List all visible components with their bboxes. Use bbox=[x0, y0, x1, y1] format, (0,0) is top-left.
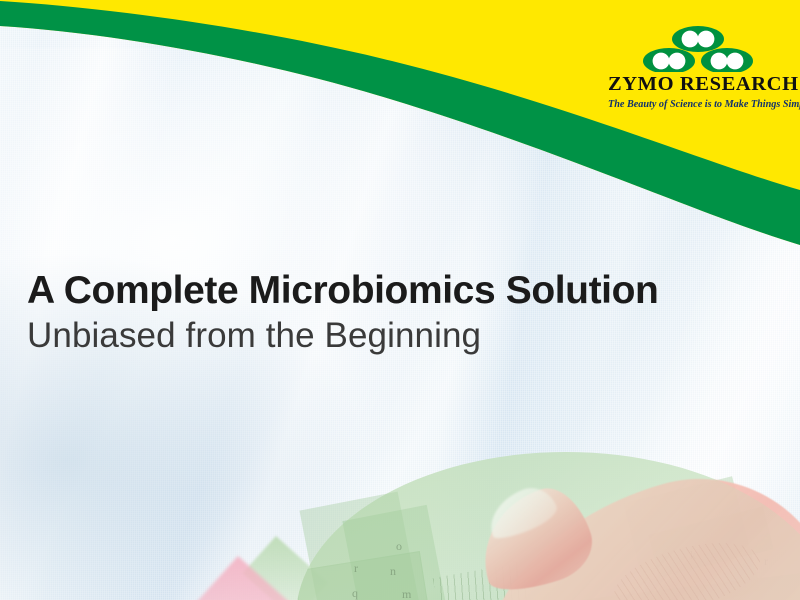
overlay-letter: o bbox=[396, 540, 402, 552]
slide-canvas: o r n q m k r bbox=[0, 0, 800, 600]
logo-ovals-icon bbox=[608, 26, 788, 72]
brand-wordmark: ZYMO RESEARCH bbox=[608, 73, 788, 96]
brand-tagline: The Beauty of Science is to Make Things … bbox=[608, 99, 788, 110]
page-title: A Complete Microbiomics Solution bbox=[27, 270, 747, 311]
three-ovals-icon bbox=[608, 26, 788, 72]
brand-logo[interactable]: ZYMO RESEARCH The Beauty of Science is t… bbox=[608, 26, 788, 110]
overlay-letter: r bbox=[354, 562, 358, 574]
headline-block: A Complete Microbiomics Solution Unbiase… bbox=[27, 270, 747, 358]
page-subtitle: Unbiased from the Beginning bbox=[27, 315, 747, 358]
overlay-letter: n bbox=[390, 565, 396, 577]
overlay-letter: q bbox=[352, 587, 358, 599]
overlay-letter: m bbox=[402, 588, 411, 600]
